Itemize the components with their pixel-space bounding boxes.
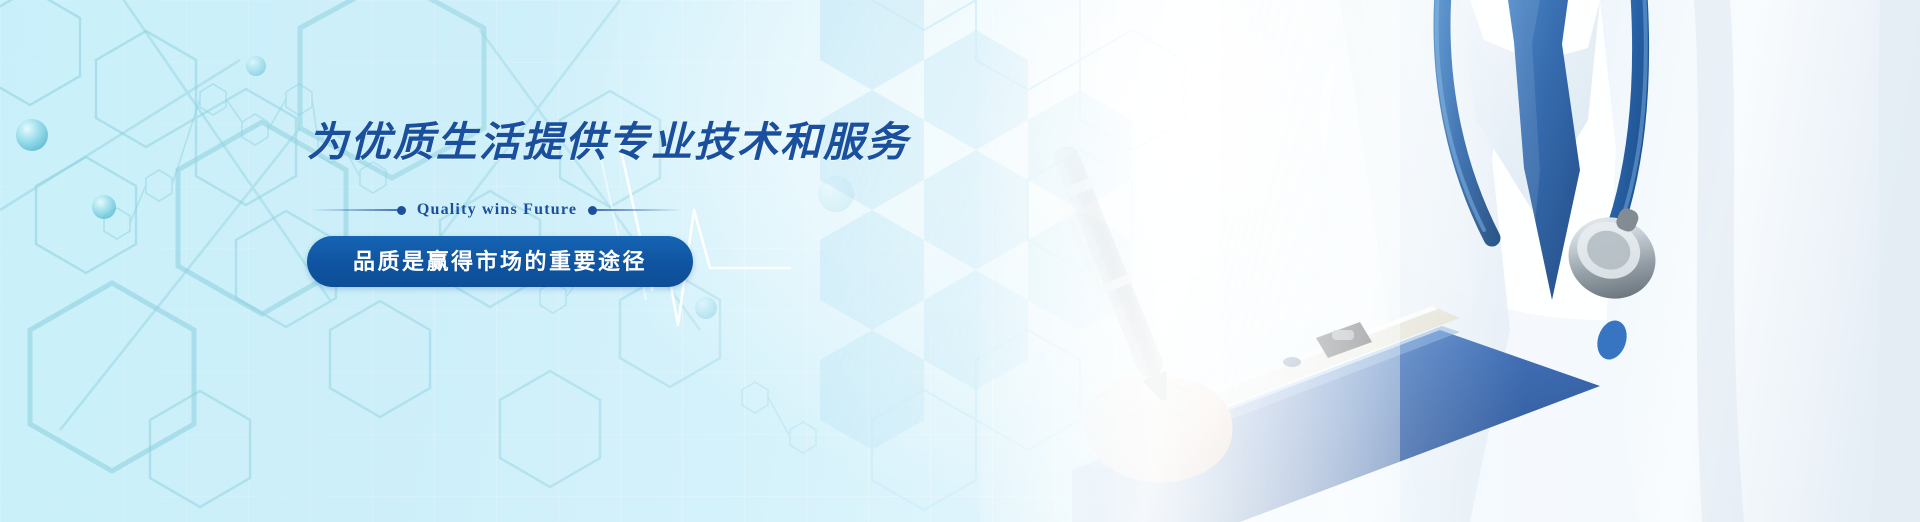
- divider-dot-left: [397, 206, 406, 215]
- banner-content: 为优质生活提供专业技术和服务 Quality wins Future 品质是赢得…: [307, 120, 1007, 287]
- english-tagline: Quality wins Future: [406, 201, 588, 219]
- tagline-divider: Quality wins Future: [311, 201, 683, 219]
- divider-line-left: [311, 209, 397, 211]
- divider-line-right: [597, 209, 683, 211]
- doctor-with-clipboard-photo: [1040, 0, 1920, 522]
- divider-dot-right: [588, 206, 597, 215]
- slogan-button[interactable]: 品质是赢得市场的重要途径: [307, 236, 693, 287]
- page-title: 为优质生活提供专业技术和服务: [307, 120, 1007, 165]
- hero-banner: 为优质生活提供专业技术和服务 Quality wins Future 品质是赢得…: [0, 0, 1920, 522]
